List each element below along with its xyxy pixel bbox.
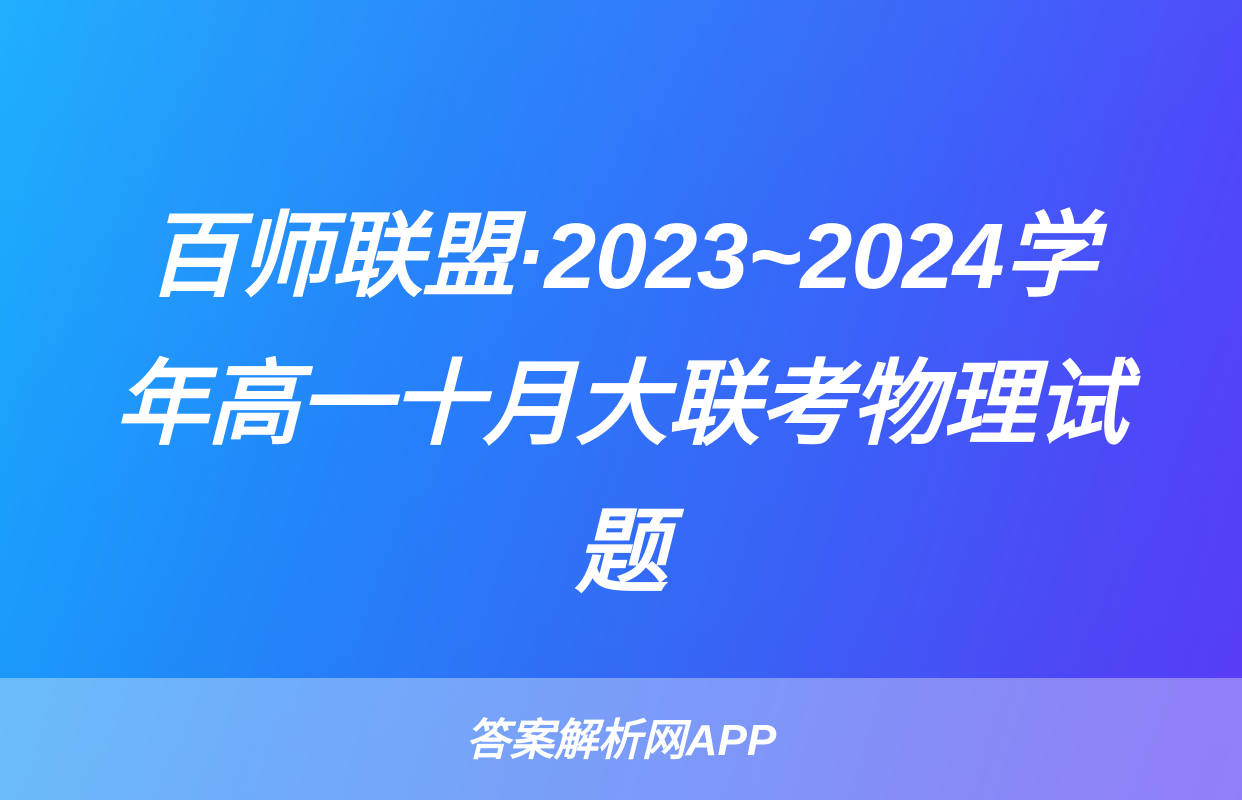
poster-title: 百师联盟·2023~2024学 年高一十月大联考物理试 题 — [0, 182, 1242, 626]
title-line-1: 百师联盟·2023~2024学 — [62, 182, 1180, 330]
poster-canvas: 百师联盟·2023~2024学 年高一十月大联考物理试 题 答案解析网APP — [0, 0, 1242, 800]
title-line-2: 年高一十月大联考物理试 — [62, 330, 1180, 478]
watermark-band: 答案解析网APP — [0, 678, 1242, 800]
title-line-3: 题 — [62, 478, 1180, 626]
watermark-label: 答案解析网APP — [466, 719, 776, 763]
